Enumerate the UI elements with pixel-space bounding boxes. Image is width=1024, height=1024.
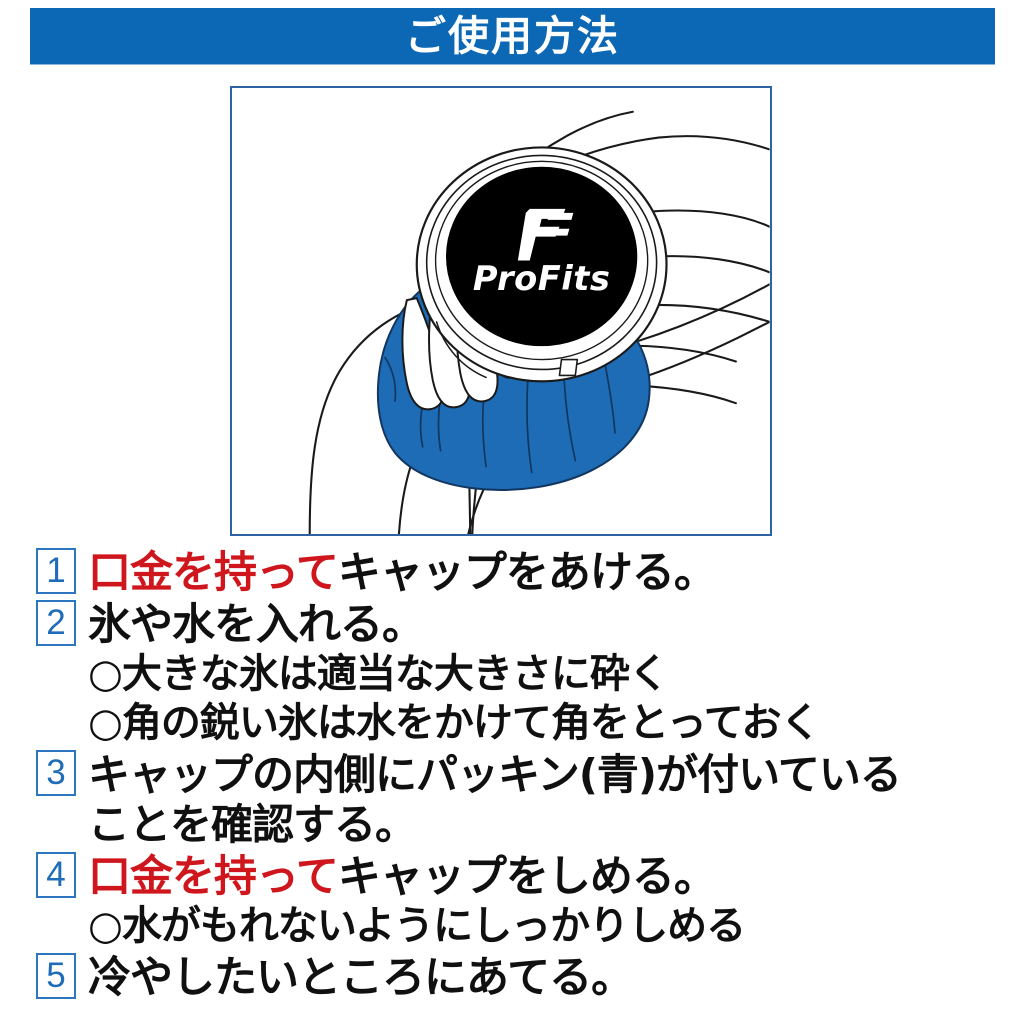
- step-sub-bullet: ○角の鋭い氷は水をかけて角をとっておく: [88, 699, 996, 748]
- step-text: キャップをあける。: [338, 548, 716, 598]
- step-line: キャップの内側にパッキン(青)が付いている: [88, 750, 996, 800]
- step-line: ことを確認する。: [88, 800, 996, 850]
- step-body: 氷や水を入れる。 ○大きな氷は適当な大きさに砕く ○角の鋭い氷は水をかけて角をと…: [88, 600, 996, 748]
- ice-bag-illustration: ProFits: [232, 88, 770, 534]
- step-emphasis-text: 口金を持って: [88, 548, 338, 598]
- step-body: 口金を持ってキャップをしめる。 ○水がもれないようにしっかりしめる: [88, 852, 996, 951]
- step-body: キャップの内側にパッキン(青)が付いている ことを確認する。: [88, 750, 996, 850]
- step-number-badge: 4: [36, 852, 76, 898]
- cap-tab: [559, 360, 577, 376]
- step-number-badge: 1: [36, 548, 76, 594]
- step-sub-bullet: ○水がもれないようにしっかりしめる: [88, 902, 996, 951]
- step-line: 口金を持ってキャップをあける。: [88, 548, 996, 598]
- instruction-page: ご使用方法: [0, 0, 1024, 1024]
- step-line: 口金を持ってキャップをしめる。: [88, 852, 996, 902]
- page-header-bar: ご使用方法: [30, 8, 995, 64]
- step-line: 冷やしたいところにあてる。: [88, 953, 996, 1003]
- instruction-step: 1 口金を持ってキャップをあける。: [36, 548, 996, 598]
- step-line: 氷や水を入れる。: [88, 600, 996, 650]
- step-number-badge: 2: [36, 600, 76, 646]
- step-text: 氷や水を入れる。: [88, 600, 424, 650]
- instruction-step: 3 キャップの内側にパッキン(青)が付いている ことを確認する。: [36, 750, 996, 850]
- instruction-step: 5 冷やしたいところにあてる。: [36, 953, 996, 1003]
- instruction-step-list: 1 口金を持ってキャップをあける。 2 氷や水を入れる。 ○大きな氷は適当な大き…: [36, 548, 996, 1005]
- step-body: 冷やしたいところにあてる。: [88, 953, 996, 1003]
- step-emphasis-text: 口金を持って: [88, 852, 338, 902]
- cap-brand-text: ProFits: [473, 259, 611, 298]
- step-number-badge: 5: [36, 953, 76, 999]
- instruction-step: 4 口金を持ってキャップをしめる。 ○水がもれないようにしっかりしめる: [36, 852, 996, 951]
- step-number-badge: 3: [36, 750, 76, 796]
- instruction-step: 2 氷や水を入れる。 ○大きな氷は適当な大きさに砕く ○角の鋭い氷は水をかけて角…: [36, 600, 996, 748]
- page-title: ご使用方法: [405, 16, 620, 57]
- step-sub-bullet: ○大きな氷は適当な大きさに砕く: [88, 650, 996, 699]
- illustration-frame: ProFits: [230, 86, 772, 536]
- step-body: 口金を持ってキャップをあける。: [88, 548, 996, 598]
- step-text: キャップをしめる。: [338, 852, 716, 902]
- cap-face: [446, 167, 636, 345]
